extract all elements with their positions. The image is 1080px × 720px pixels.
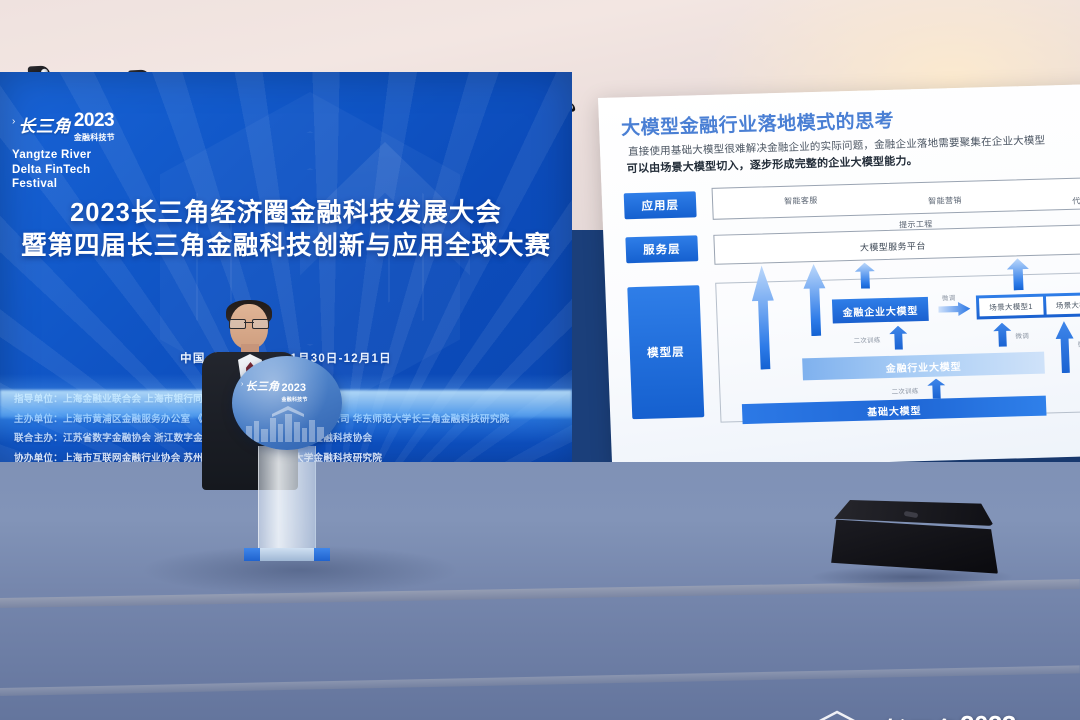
scene-model-group: 场景大模型1 场景大模型2 <box>976 292 1080 320</box>
service-platform-label: 大模型服务平台 <box>860 239 926 254</box>
skyline-graphic <box>242 404 332 442</box>
podium: › 长三角 2023 金融科技节 <box>232 356 342 566</box>
logo-en-line1: Yangtze River <box>12 148 162 163</box>
layer-tag-model: 模型层 <box>627 285 704 419</box>
logo-cn-subtitle: 金融科技节 <box>74 132 115 143</box>
podium-acrylic-stem <box>258 446 316 554</box>
festival-logo: › 长三角 2023 金融科技节 Yangtze River Delta Fin… <box>12 112 162 192</box>
scene-model-box: 场景大模型1 <box>979 297 1043 317</box>
festival-mark-icon <box>814 710 860 720</box>
logo-arrow-icon: › <box>12 112 15 132</box>
conference-stage-photo: › 长三角 2023 金融科技节 Yangtze River Delta Fin… <box>0 0 1080 720</box>
arrow-label: 二次训练 <box>853 334 881 345</box>
podium-base-accent <box>314 548 330 561</box>
stage-monitor-speaker <box>826 500 1001 582</box>
arrow-label: 二次训练 <box>891 385 919 396</box>
podium-logo-year: 2023 <box>282 382 306 394</box>
arrow-label: 微调 <box>1015 330 1029 340</box>
conference-title-line1: 2023长三角经济圈金融科技发展大会 <box>0 197 572 230</box>
watermark-cn-name: 长三角 <box>878 712 956 720</box>
podium-logo-cn: 长三角 <box>245 378 279 394</box>
conference-title-line2: 暨第四届长三角金融科技创新与应用全球大赛 <box>0 230 572 263</box>
podium-logo-sub: 金融科技节 <box>282 396 308 403</box>
glasses-bridge <box>244 322 254 323</box>
arrow-label: 微调 <box>942 292 956 302</box>
app-item-label: 代码助手 <box>1072 195 1080 207</box>
scene-model-box: 场景大模型2 <box>1045 295 1080 315</box>
backdrop-title-block: 2023长三角经济圈金融科技发展大会 暨第四届长三角金融科技创新与应用全球大赛 <box>0 197 572 263</box>
logo-en-line3: Festival <box>12 177 162 192</box>
podium-logo: › 长三角 2023 金融科技节 <box>241 378 308 403</box>
enterprise-model-box: 金融企业大模型 <box>832 297 929 324</box>
watermark-text: › 长三角 2023 金融科技节 Yangtze River Delta Fin… <box>870 712 1018 720</box>
application-layer-box <box>712 177 1080 220</box>
presentation-slide: 大模型金融行业落地模式的思考 直接使用基础大模型很难解决金融企业的实际问题，金融… <box>598 84 1080 470</box>
slide-title: 大模型金融行业落地模式的思考 <box>621 106 895 141</box>
podium-branded-plate: › 长三角 2023 金融科技节 <box>232 356 342 450</box>
watermark-year: 2023 <box>960 710 1016 720</box>
logo-en-line2: Delta FinTech <box>12 163 162 178</box>
podium-base-accent <box>244 548 260 561</box>
layer-tag-application: 应用层 <box>624 191 697 219</box>
layer-tag-service: 服务层 <box>625 235 698 263</box>
logo-cn-name: 长三角 <box>18 112 71 137</box>
watermark-arrow-icon: › <box>870 712 874 720</box>
app-item-label: 智能营销 <box>928 195 962 207</box>
podium-logo-arrow-icon: › <box>241 378 243 392</box>
app-item-label: 智能客服 <box>784 195 818 207</box>
logo-year: 2023 <box>74 110 114 131</box>
glasses-icon <box>229 319 269 328</box>
